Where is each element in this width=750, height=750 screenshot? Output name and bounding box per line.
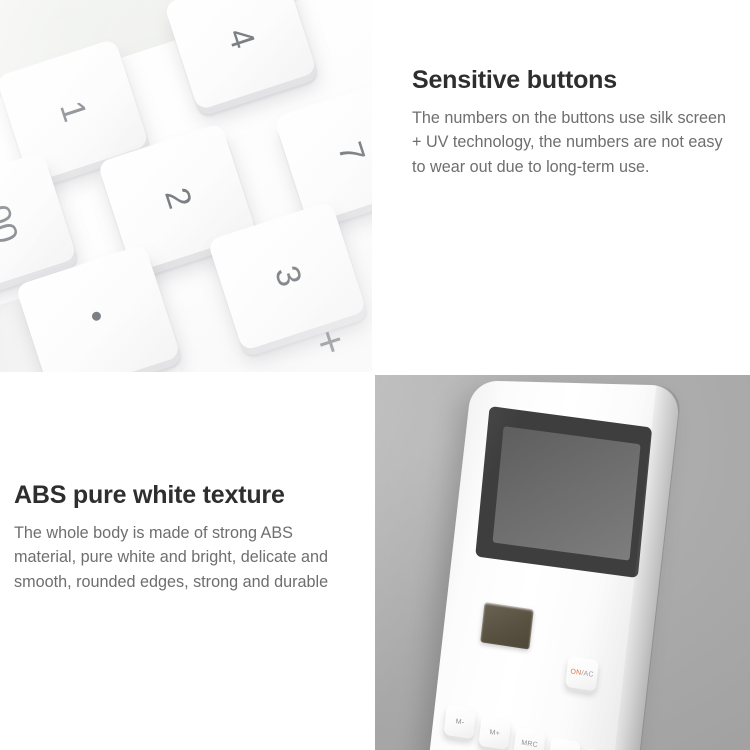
button-memory-recall-clear-label: MRC <box>521 739 538 749</box>
calculator-photo-surface: ON/AC M- M+ MRC GT % <box>375 375 750 750</box>
button-memory-minus-label: M- <box>455 718 464 726</box>
keypad-photo-surface: 1 4 7 2 00 3 . + <box>0 0 372 372</box>
feature-title-1: Sensitive buttons <box>412 66 732 95</box>
key-1-label: 1 <box>51 96 94 126</box>
feature-text-block-1: Sensitive buttons The numbers on the but… <box>412 66 732 180</box>
feature-panel-abs-texture: ABS pure white texture The whole body is… <box>0 375 372 750</box>
key-7-label: 7 <box>329 137 372 167</box>
feature-text-block-2: ABS pure white texture The whole body is… <box>14 481 359 595</box>
feature-panel-sensitive-buttons: Sensitive buttons The numbers on the but… <box>375 0 750 372</box>
feature-title-2: ABS pure white texture <box>14 481 359 510</box>
button-memory-plus: M+ <box>478 716 511 750</box>
calculator-display-screen <box>492 426 640 561</box>
product-feature-grid: 1 4 7 2 00 3 . + Sens <box>0 0 750 750</box>
button-on-label: ON <box>570 668 582 677</box>
button-power-on-ac: ON/AC <box>565 656 599 692</box>
key-2-label: 2 <box>156 183 199 213</box>
photo-calculator-profile: ON/AC M- M+ MRC GT % <box>375 375 750 750</box>
key-4-label: 4 <box>219 23 262 53</box>
button-memory-minus: M- <box>444 705 477 739</box>
feature-body-2: The whole body is made of strong ABS mat… <box>14 521 359 595</box>
calculator-screen-bezel <box>475 406 652 578</box>
key-3-label: 3 <box>266 261 309 291</box>
calculator-body: ON/AC M- M+ MRC GT % <box>429 380 682 750</box>
photo-keypad-macro: 1 4 7 2 00 3 . + <box>0 0 372 372</box>
feature-body-1: The numbers on the buttons use silk scre… <box>412 106 732 180</box>
button-grand-total: GT <box>548 737 581 750</box>
button-ac-label: AC <box>583 670 594 679</box>
button-memory-plus-label: M+ <box>489 729 500 738</box>
solar-panel <box>480 602 534 649</box>
key-double-zero-label: 00 <box>0 200 25 248</box>
button-memory-recall-clear: MRC <box>513 727 546 750</box>
